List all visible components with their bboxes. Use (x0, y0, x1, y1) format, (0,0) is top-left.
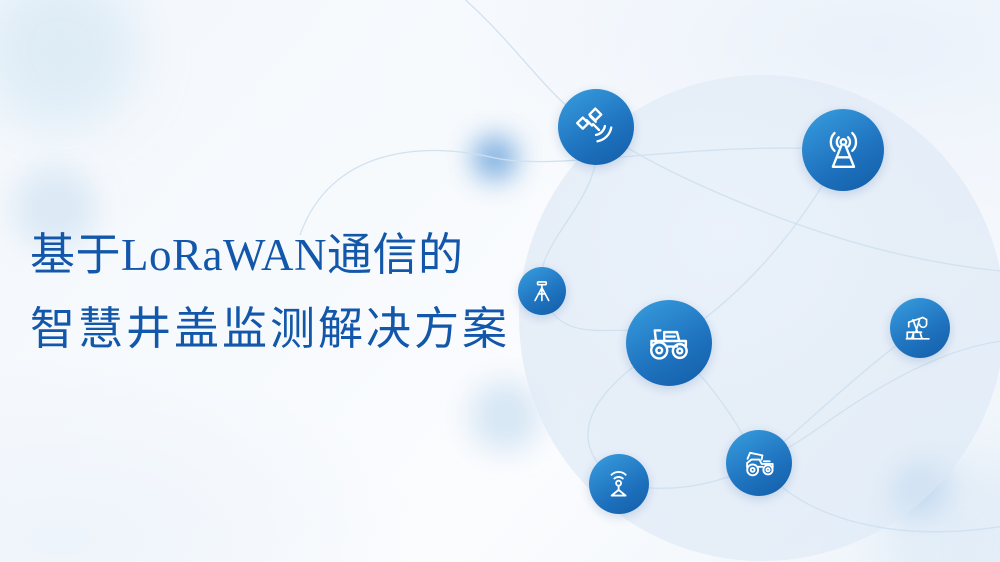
node-satellite[interactable] (558, 89, 634, 165)
node-antenna[interactable] (802, 109, 884, 191)
title-line-1: 基于LoRaWAN通信的 (30, 224, 570, 286)
slide-canvas: 基于LoRaWAN通信的 智慧井盖监测解决方案 (0, 0, 1000, 562)
node-oilpump[interactable] (890, 298, 950, 358)
wireless-sensor-icon (600, 465, 637, 502)
orbit-path-3 (588, 150, 843, 484)
orbit-path-4 (669, 343, 1000, 532)
oil-pumpjack-icon (901, 309, 938, 346)
broadcast-tower-icon (818, 125, 869, 176)
orbit-path-1 (300, 148, 843, 235)
node-sensor[interactable] (589, 454, 649, 514)
tractor-icon (642, 316, 695, 369)
page-title: 基于LoRaWAN通信的 智慧井盖监测解决方案 (30, 224, 570, 364)
node-tractor[interactable] (626, 300, 712, 386)
mining-hauler-icon (739, 443, 780, 484)
title-line-2: 智慧井盖监测解决方案 (30, 294, 570, 364)
node-hauler[interactable] (726, 430, 792, 496)
satellite-icon (572, 103, 619, 150)
